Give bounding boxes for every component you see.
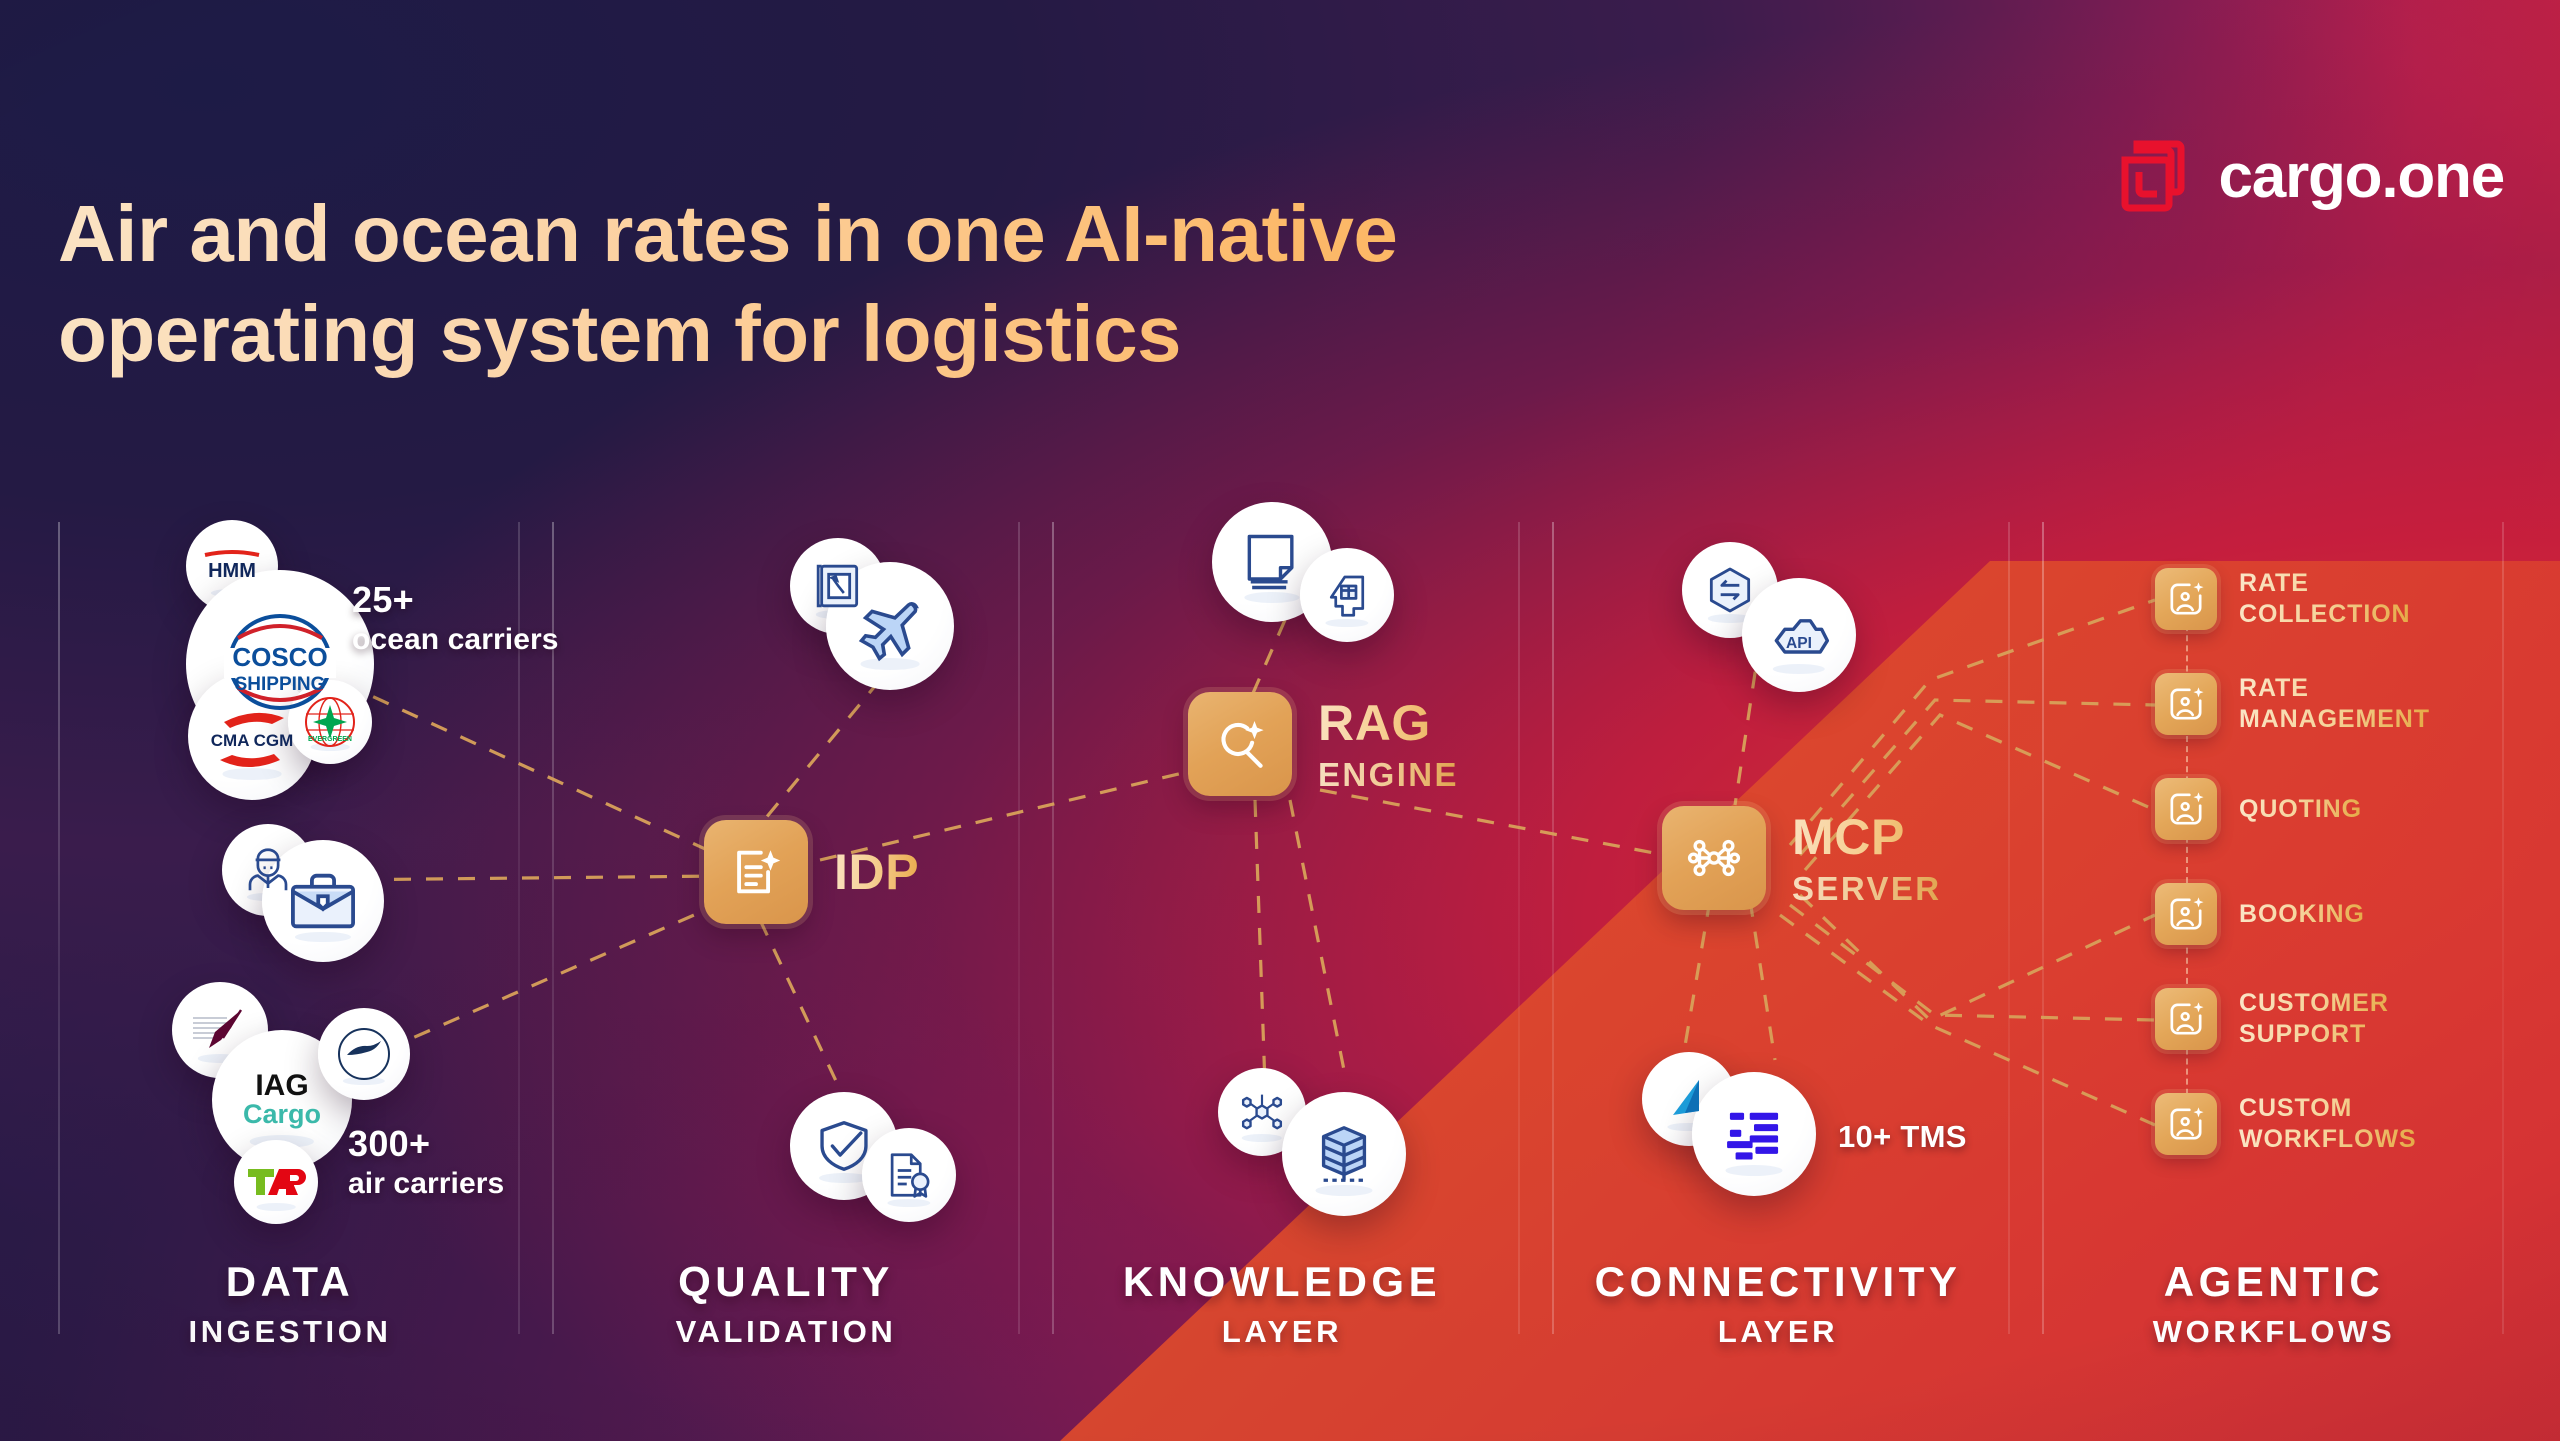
hmm-logo: HMM [201, 549, 263, 583]
column-subtitle-connectivity: LAYER [1548, 1314, 2008, 1350]
agent-avatar-sparkle-icon [2166, 1104, 2206, 1144]
column-label-agentic-workflows: AGENTIC WORKFLOWS [2044, 1258, 2504, 1350]
column-label-knowledge-layer: KNOWLEDGE LAYER [1052, 1258, 1512, 1350]
certificate-document-icon [882, 1148, 936, 1202]
infographic-canvas: Air and ocean rates in one AI-native ope… [0, 0, 2560, 1441]
mcp-subtitle: SERVER [1792, 872, 1942, 905]
agentic-icon-customer-support [2155, 988, 2217, 1050]
network-graph-icon [1236, 1086, 1288, 1138]
air-carriers-label: air carriers [348, 1166, 504, 1203]
agentic-item-custom-workflows[interactable]: CUSTOM WORKFLOWS [2155, 1093, 2417, 1155]
agentic-label-quoting: QUOTING [2239, 794, 2362, 825]
agentic-label-rate-management: RATE MANAGEMENT [2239, 673, 2430, 735]
tap-logo [246, 1163, 306, 1201]
agentic-icon-quoting [2155, 778, 2217, 840]
svg-text:CMA CGM: CMA CGM [211, 731, 293, 750]
api-cloud-bubble: API [1742, 578, 1856, 692]
svg-text:Cargo: Cargo [243, 1099, 321, 1129]
api-cloud-icon: API [1765, 601, 1833, 669]
network-node-icon [1685, 829, 1743, 887]
title-line-1: Air and ocean rates in one AI-native [58, 189, 1397, 278]
database-bubble [1282, 1092, 1406, 1216]
svg-text:SHIPPING: SHIPPING [235, 674, 326, 695]
core-node-rag[interactable]: RAG ENGINE [1188, 692, 1459, 796]
divider-4b [2042, 522, 2044, 1334]
tms-bars-logo [1720, 1100, 1788, 1168]
rag-title: RAG [1318, 698, 1459, 748]
airplane-icon [851, 587, 929, 665]
agentic-label-customer-support: CUSTOMER SUPPORT [2239, 988, 2389, 1050]
agent-avatar-sparkle-icon [2166, 789, 2206, 829]
certificate-bubble [862, 1128, 956, 1222]
idp-label-group: IDP [834, 847, 919, 897]
rag-label-group: RAG ENGINE [1318, 698, 1459, 791]
column-title-connectivity: CONNECTIVITY [1548, 1258, 2008, 1306]
briefcase-icon [285, 863, 361, 939]
column-title-data: DATA [60, 1258, 520, 1306]
lufthansa-cargo-logo [333, 1023, 395, 1085]
agentic-item-booking[interactable]: BOOKING [2155, 883, 2365, 945]
agent-avatar-sparkle-icon [2166, 999, 2206, 1039]
agent-avatar-sparkle-icon [2166, 579, 2206, 619]
tms-count-label: 10+ TMS [1838, 1118, 1967, 1156]
divider-2b [1052, 522, 1054, 1334]
document-stack-icon [1238, 528, 1306, 596]
search-sparkle-icon [1211, 715, 1269, 773]
column-subtitle-data: INGESTION [60, 1314, 520, 1350]
agentic-icon-rate-management [2155, 673, 2217, 735]
agentic-label-booking: BOOKING [2239, 899, 2365, 930]
rag-chip [1188, 692, 1292, 796]
tms-arrow-logo [1665, 1075, 1713, 1123]
column-subtitle-agentic: WORKFLOWS [2044, 1314, 2504, 1350]
column-label-quality-validation: QUALITY VALIDATION [556, 1258, 1016, 1350]
carrier-logo-tap [234, 1140, 318, 1224]
agentic-label-custom-workflows: CUSTOM WORKFLOWS [2239, 1093, 2417, 1155]
data-exchange-icon [1702, 562, 1758, 618]
agentic-label-rate-collection: RATE COLLECTION [2239, 568, 2411, 630]
rag-subtitle: ENGINE [1318, 758, 1459, 791]
cma-cgm-logo: CMA CGM [200, 702, 304, 770]
agentic-item-rate-management[interactable]: RATE MANAGEMENT [2155, 673, 2430, 735]
mcp-title: MCP [1792, 812, 1942, 862]
idp-title: IDP [834, 847, 919, 897]
agentic-icon-rate-collection [2155, 568, 2217, 630]
agentic-item-customer-support[interactable]: CUSTOMER SUPPORT [2155, 988, 2389, 1050]
svg-text:API: API [1786, 635, 1812, 652]
idp-chip [704, 820, 808, 924]
svg-text:IAG: IAG [255, 1069, 308, 1102]
mcp-label-group: MCP SERVER [1792, 812, 1942, 905]
core-node-mcp[interactable]: MCP SERVER [1662, 806, 1942, 910]
qatar-airways-logo [187, 1004, 253, 1056]
evergreen-logo: EVERGREEN [302, 694, 358, 750]
mcp-chip [1662, 806, 1766, 910]
divider-right-edge [2502, 522, 2504, 1334]
brand-logo[interactable]: cargo.one [2113, 138, 2505, 216]
divider-left-edge [58, 522, 60, 1334]
column-label-data-ingestion: DATA INGESTION [60, 1258, 520, 1350]
column-title-knowledge: KNOWLEDGE [1052, 1258, 1512, 1306]
air-carriers-counter: 300+ air carriers [348, 1122, 504, 1203]
column-label-connectivity-layer: CONNECTIVITY LAYER [1548, 1258, 2008, 1350]
iag-cargo-logo: IAG Cargo [228, 1067, 336, 1133]
brain-head-icon [1320, 568, 1374, 622]
divider-4a [2008, 522, 2010, 1334]
title-line-2: operating system for logistics [58, 284, 1818, 385]
divider-2a [1018, 522, 1020, 1334]
core-node-idp[interactable]: IDP [704, 820, 919, 924]
ocean-carriers-label: ocean carriers [352, 622, 559, 659]
agent-avatar-sparkle-icon [2166, 894, 2206, 934]
column-title-quality: QUALITY [556, 1258, 1016, 1306]
ocean-carriers-counter: 25+ ocean carriers [352, 578, 559, 659]
agentic-item-quoting[interactable]: QUOTING [2155, 778, 2362, 840]
document-sparkle-icon [727, 843, 785, 901]
divider-3a [1518, 522, 1520, 1334]
air-carriers-count: 300+ [348, 1122, 504, 1166]
knowledge-head-bubble [1300, 548, 1394, 642]
column-title-agentic: AGENTIC [2044, 1258, 2504, 1306]
bubble-shadow [257, 1203, 296, 1211]
column-subtitle-quality: VALIDATION [556, 1314, 1016, 1350]
svg-text:EVERGREEN: EVERGREEN [308, 736, 352, 743]
page-title: Air and ocean rates in one AI-native ope… [58, 184, 1818, 386]
agentic-icon-custom-workflows [2155, 1093, 2217, 1155]
brand-wordmark: cargo.one [2219, 146, 2505, 208]
ocean-carriers-count: 25+ [352, 578, 559, 622]
cargo-one-logo-mark-icon [2113, 138, 2191, 216]
divider-3b [1552, 522, 1554, 1334]
agentic-item-rate-collection[interactable]: RATE COLLECTION [2155, 568, 2411, 630]
shield-check-icon [813, 1115, 875, 1177]
column-subtitle-knowledge: LAYER [1052, 1314, 1512, 1350]
agent-avatar-sparkle-icon [2166, 684, 2206, 724]
agentic-icon-booking [2155, 883, 2217, 945]
svg-text:COSCO: COSCO [232, 642, 327, 672]
database-icon [1309, 1119, 1379, 1189]
svg-text:HMM: HMM [208, 560, 256, 582]
